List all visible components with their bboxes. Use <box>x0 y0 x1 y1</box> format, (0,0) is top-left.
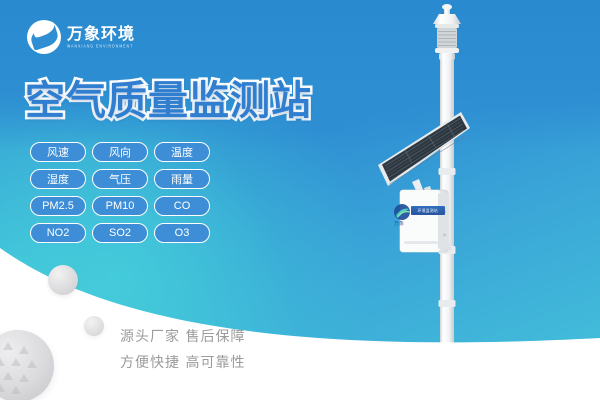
decor-sphere-small-upper <box>48 265 78 295</box>
logo-name-cn: 万象环境 <box>67 26 135 42</box>
parameter-pill[interactable]: 湿度 <box>30 169 86 189</box>
white-wave-divider <box>0 230 600 400</box>
parameter-pill[interactable]: 温度 <box>154 142 210 162</box>
parameter-pill[interactable]: 风向 <box>92 142 148 162</box>
parameter-pill-row: 风速风向温度 <box>30 142 220 162</box>
parameter-pill[interactable]: PM2.5 <box>30 196 86 216</box>
logo-name-en: WANXIANG ENVIRONMENT <box>67 45 135 49</box>
parameter-pill[interactable]: NO2 <box>30 223 86 243</box>
sensor-head-icon <box>433 4 461 60</box>
parameter-pill-grid: 风速风向温度湿度气压雨量PM2.5PM10CONO2SO2O3 <box>30 142 220 250</box>
globe-swoosh-icon <box>27 20 61 54</box>
svg-text:万象: 万象 <box>394 220 404 227</box>
parameter-pill[interactable]: O3 <box>154 223 210 243</box>
slogan-block: 源头厂家 售后保障 方便快捷 高可靠性 <box>120 324 245 376</box>
slogan-line-2: 方便快捷 高可靠性 <box>120 350 245 376</box>
parameter-pill[interactable]: PM10 <box>92 196 148 216</box>
parameter-pill[interactable]: 气压 <box>92 169 148 189</box>
decor-sphere-large-patterned <box>0 330 54 400</box>
enclosure-label-text: 环境监测站 <box>418 208 438 214</box>
decor-sphere-small-lower <box>84 316 104 336</box>
brand-logo[interactable]: 万象环境 WANXIANG ENVIRONMENT <box>27 20 135 54</box>
product-banner: 万象 环境监测站 万象环 <box>0 0 600 400</box>
parameter-pill[interactable]: SO2 <box>92 223 148 243</box>
parameter-pill-row: PM2.5PM10CO <box>30 196 220 216</box>
parameter-pill-row: 湿度气压雨量 <box>30 169 220 189</box>
parameter-pill[interactable]: CO <box>154 196 210 216</box>
parameter-pill[interactable]: 雨量 <box>154 169 210 189</box>
slogan-line-1: 源头厂家 售后保障 <box>120 324 245 350</box>
enclosure-label: 环境监测站 <box>411 206 445 215</box>
parameter-pill-row: NO2SO2O3 <box>30 223 220 243</box>
page-title: 空气质量监测站 <box>25 68 312 126</box>
page-title-text: 空气质量监测站 <box>25 78 312 124</box>
solar-panel <box>378 106 470 186</box>
parameter-pill[interactable]: 风速 <box>30 142 86 162</box>
